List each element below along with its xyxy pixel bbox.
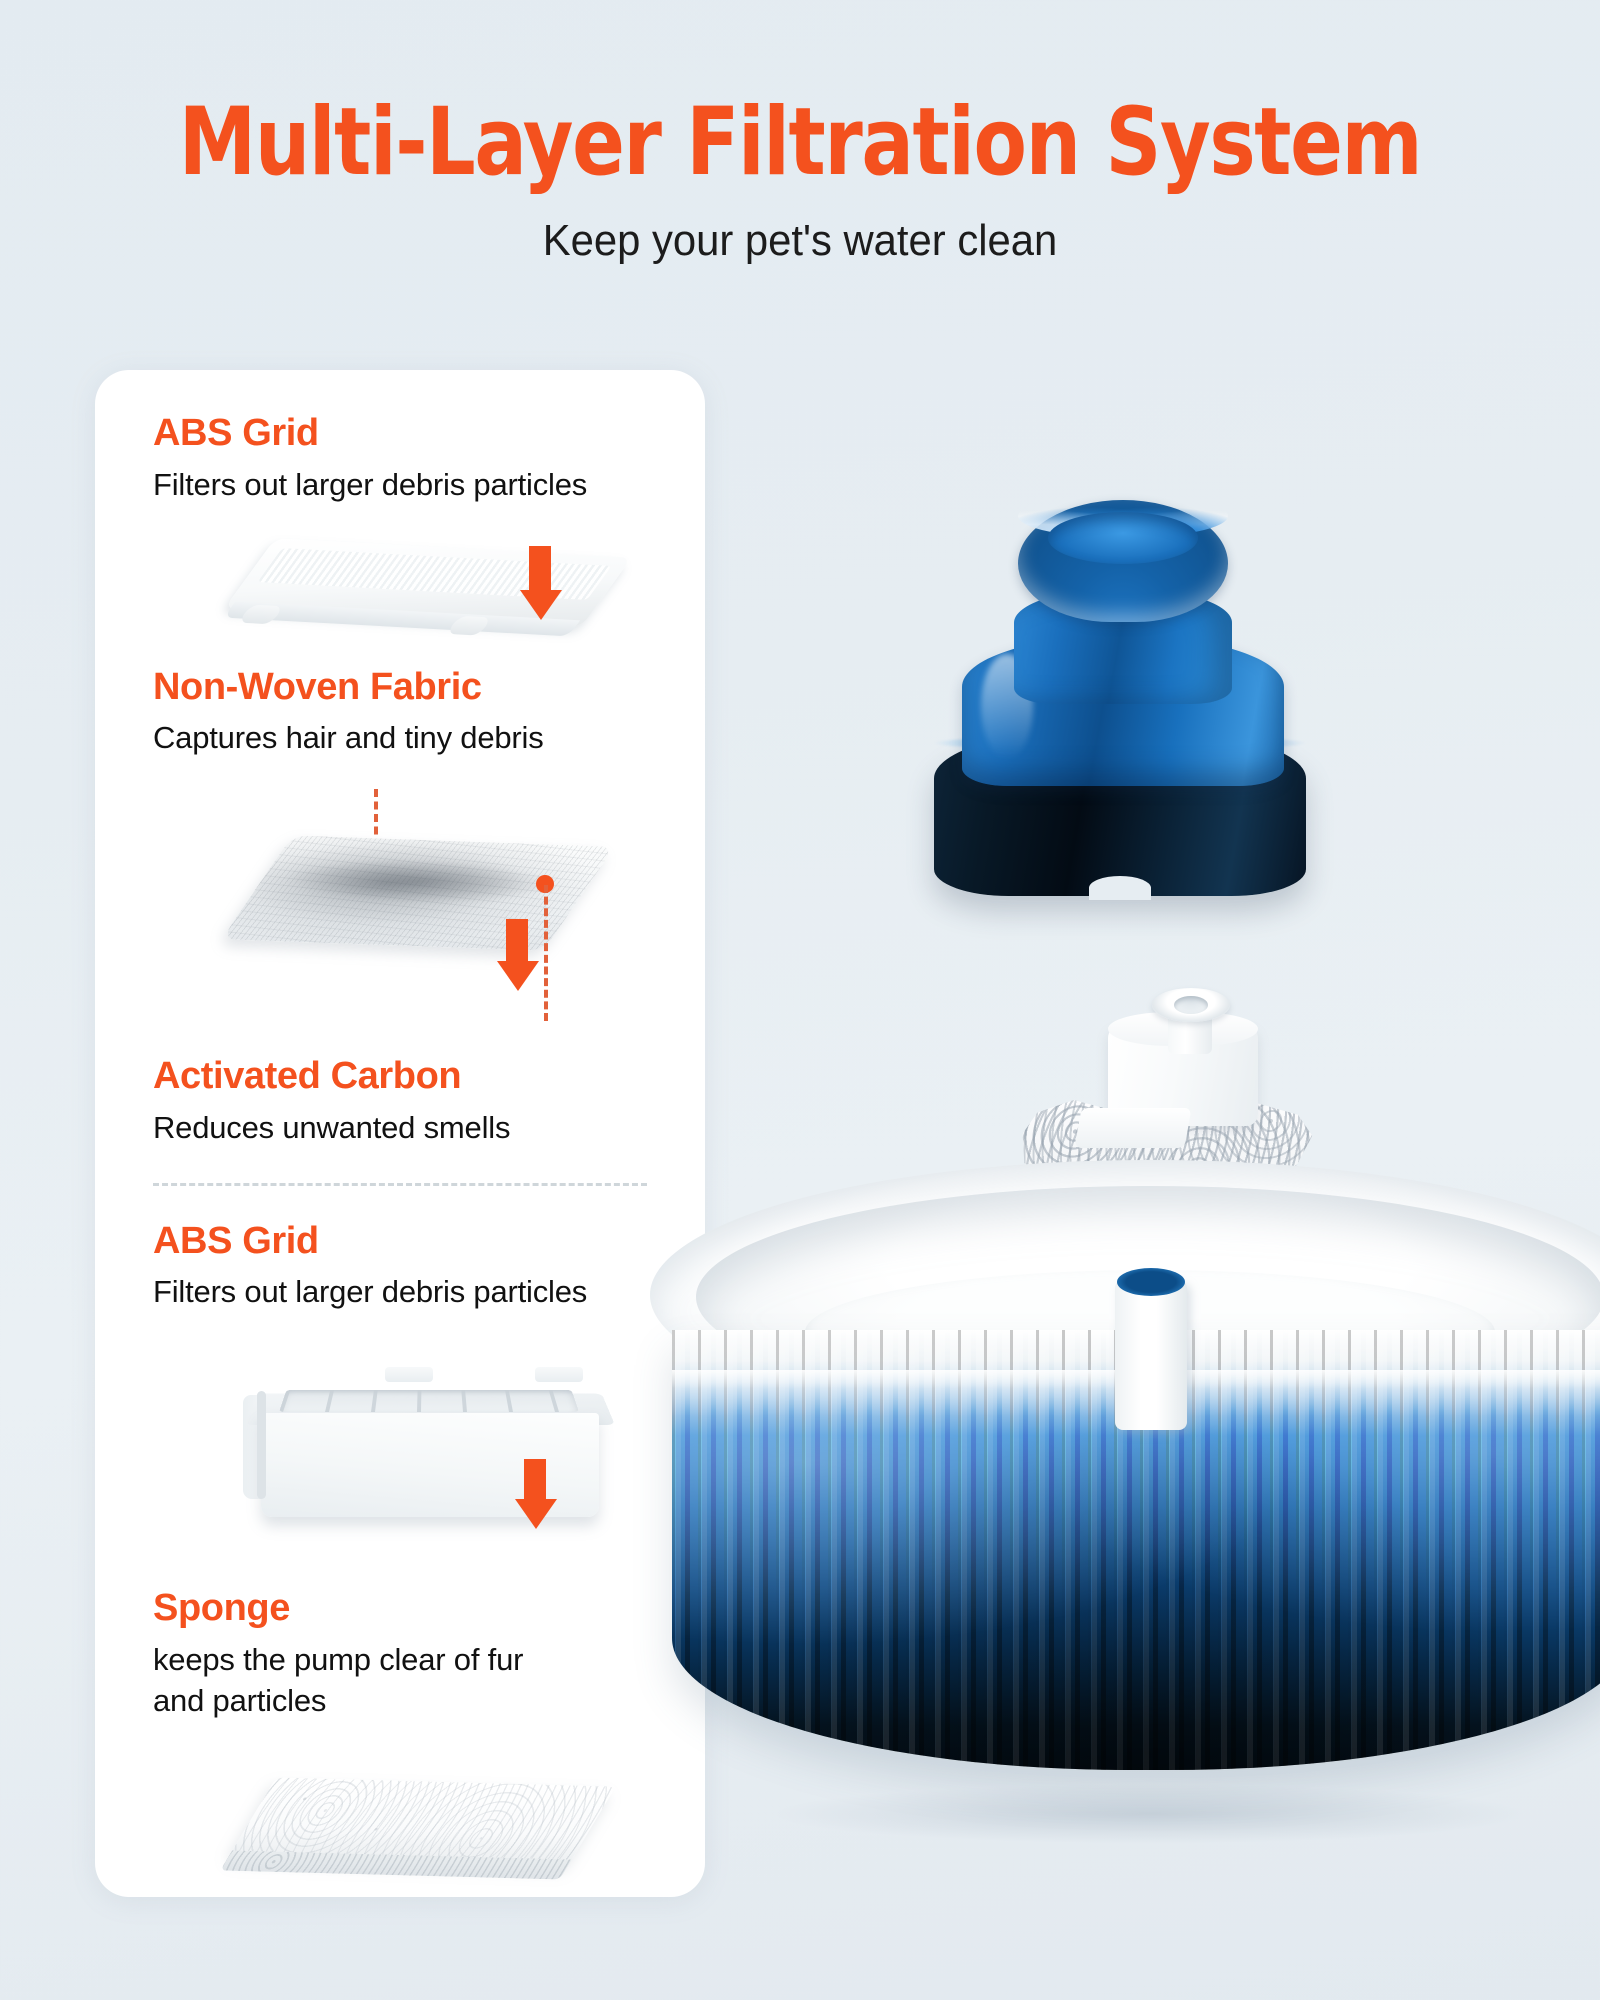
down-arrow-icon xyxy=(520,546,560,620)
down-arrow-icon xyxy=(515,1459,555,1529)
abs-grid-box-illustration xyxy=(95,1347,705,1577)
pump-outlet-icon xyxy=(1152,988,1230,1022)
fluted-ceramic-bowl xyxy=(650,1160,1600,1830)
layer-non-woven-fabric: Non-Woven Fabric Captures hair and tiny … xyxy=(95,666,705,1030)
layer-text-block: Sponge keeps the pump clear of fur and p… xyxy=(95,1587,705,1722)
page-header: Multi-Layer Filtration System Keep your … xyxy=(0,0,1600,266)
layer-text-block: ABS Grid Filters out larger debris parti… xyxy=(95,412,705,506)
layer-description: Filters out larger debris particles xyxy=(153,465,705,506)
abs-grid-plate-illustration xyxy=(95,548,705,618)
product-exploded-view xyxy=(700,500,1600,1980)
abs-grid-plate-icon xyxy=(224,538,631,627)
layer-text-block: ABS Grid Filters out larger debris parti… xyxy=(95,1220,705,1314)
layer-title: Sponge xyxy=(153,1587,705,1631)
ceramic-fountain-top xyxy=(940,500,1300,890)
callout-line-right xyxy=(544,885,548,1021)
layer-activated-carbon: Activated Carbon Reduces unwanted smells xyxy=(95,1055,705,1186)
page-title: Multi-Layer Filtration System xyxy=(64,96,1536,190)
layer-text-block: Non-Woven Fabric Captures hair and tiny … xyxy=(95,666,705,760)
water-inlet-tube xyxy=(1115,1280,1187,1430)
layer-abs-grid-top: ABS Grid Filters out larger debris parti… xyxy=(95,412,705,618)
layer-title: ABS Grid xyxy=(153,1220,705,1264)
layer-description: keeps the pump clear of fur and particle… xyxy=(153,1640,573,1722)
layer-title: Activated Carbon xyxy=(153,1055,705,1099)
layer-description: Reduces unwanted smells xyxy=(153,1108,705,1149)
page-subtitle: Keep your pet's water clean xyxy=(40,216,1560,266)
layer-title: Non-Woven Fabric xyxy=(153,666,705,710)
down-arrow-icon xyxy=(497,919,537,991)
non-woven-fabric-illustration xyxy=(95,789,705,1029)
section-divider xyxy=(153,1183,647,1186)
layer-text-block: Activated Carbon Reduces unwanted smells xyxy=(95,1055,705,1149)
filtration-layers-card: ABS Grid Filters out larger debris parti… xyxy=(95,370,705,1897)
non-woven-fabric-sheet-icon xyxy=(221,835,614,950)
layer-title: ABS Grid xyxy=(153,412,705,456)
layer-description: Filters out larger debris particles xyxy=(153,1272,705,1313)
abs-grid-box-icon xyxy=(245,1361,615,1531)
layer-sponge: Sponge keeps the pump clear of fur and p… xyxy=(95,1587,705,1948)
layer-abs-grid-box: ABS Grid Filters out larger debris parti… xyxy=(95,1220,705,1578)
sponge-illustration xyxy=(95,1748,705,1948)
layer-description: Captures hair and tiny debris xyxy=(153,718,705,759)
sponge-slab-icon xyxy=(229,1777,616,1864)
